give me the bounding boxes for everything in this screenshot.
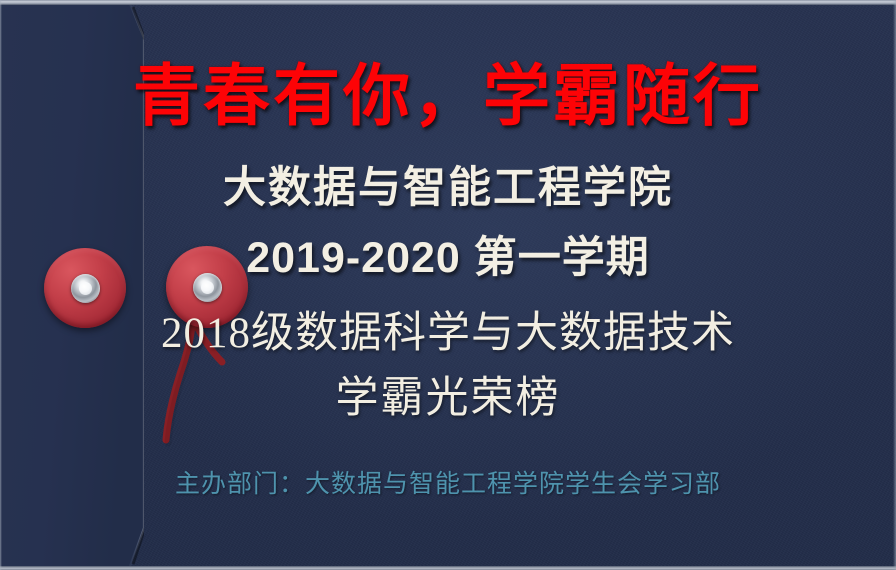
college-name: 大数据与智能工程学院: [0, 153, 896, 215]
academic-term: 2019-2020 第一学期: [0, 223, 896, 285]
organizer-line: 主办部门：大数据与智能工程学院学生会学习部: [0, 464, 896, 500]
poster-canvas: 青春有你，学霸随行 大数据与智能工程学院 2019-2020 第一学期 2018…: [0, 0, 896, 570]
poster-text-block: 青春有你，学霸随行 大数据与智能工程学院 2019-2020 第一学期 2018…: [0, 0, 896, 570]
major-and-class: 2018级数据科学与大数据技术: [0, 298, 896, 360]
poster-headline: 青春有你，学霸随行: [0, 42, 896, 139]
honor-roll-title: 学霸光荣榜: [0, 363, 896, 425]
